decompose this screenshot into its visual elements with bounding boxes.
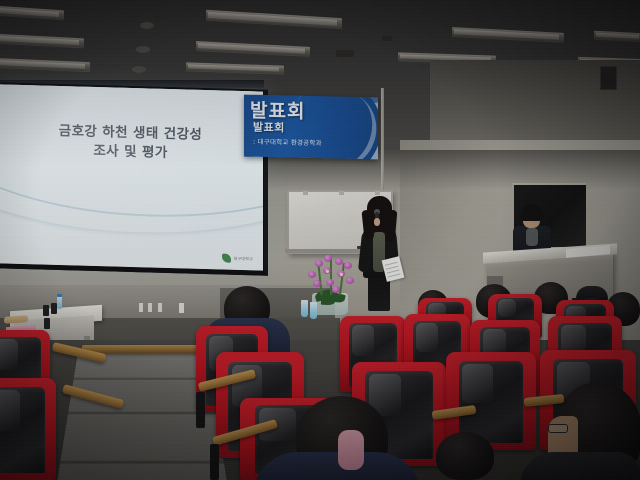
floor-object <box>148 303 152 312</box>
host-shirt <box>526 228 538 246</box>
ceiling-light-fixture <box>196 41 310 56</box>
orchid-blossom <box>324 255 332 262</box>
orchid-arrangement <box>299 253 361 319</box>
audience-scarf <box>338 430 364 470</box>
wall-speaker-icon <box>600 66 617 90</box>
ceiling-speaker-icon <box>136 46 150 53</box>
host-hair <box>520 204 543 221</box>
orchid-blossom <box>326 279 334 286</box>
flower-stem <box>317 263 322 295</box>
ceiling-light-fixture <box>0 58 90 71</box>
floor-object <box>158 303 162 312</box>
orchid-blossom <box>315 260 323 267</box>
university-logo-icon <box>222 254 231 263</box>
banner-pole <box>381 88 384 198</box>
projection-screen: 금호강 하천 생태 건강성 조사 및 평가 대구대학교 <box>0 82 268 276</box>
floor-object <box>179 303 184 313</box>
orchid-blossom <box>332 286 340 293</box>
ceiling-speaker-icon <box>132 66 146 73</box>
ceiling-vent <box>336 50 354 57</box>
ceiling-light-fixture <box>0 34 84 48</box>
eyeglasses-icon <box>548 424 568 433</box>
presenter-papers <box>382 256 405 282</box>
ceiling-speaker-icon <box>140 22 154 29</box>
audience-torso <box>520 452 640 480</box>
orchid-blossom <box>344 262 352 269</box>
orchid-center <box>340 273 343 276</box>
audience-torso <box>252 452 422 480</box>
water-bottle <box>57 296 62 309</box>
water-bottle <box>310 302 317 319</box>
armrest-post <box>196 392 205 428</box>
event-banner: 발표회 발표회 : 대구대학교 환경공학과 <box>244 95 378 160</box>
slide-title: 금호강 하천 생태 건강성 조사 및 평가 <box>0 120 263 165</box>
orchid-blossom <box>313 280 321 287</box>
auditorium-seat[interactable] <box>0 378 56 480</box>
ceiling-light-fixture <box>452 27 564 42</box>
banner-org-line: : 대구대학교 환경공학과 <box>253 136 322 147</box>
dark-cup <box>44 318 50 329</box>
ceiling-vent <box>382 36 392 41</box>
presenter <box>356 196 402 314</box>
ceiling-light-fixture <box>0 6 64 20</box>
audience-head <box>436 432 494 480</box>
slide-logo-text: 대구대학교 <box>234 255 253 262</box>
floor-object <box>139 303 143 312</box>
flower-leaf <box>321 298 335 305</box>
slide-surface: 금호강 하천 생태 건강성 조사 및 평가 대구대학교 <box>0 84 263 270</box>
orchid-blossom <box>335 258 343 265</box>
ceiling-light-fixture <box>594 31 640 42</box>
orchid-blossom <box>308 271 316 278</box>
ceiling-light-fixture <box>206 10 342 28</box>
orchid-blossom <box>346 277 354 284</box>
armrest-post <box>210 444 219 480</box>
presenter-hair <box>367 196 392 232</box>
dark-cup <box>43 305 49 316</box>
ceiling-light-fixture <box>186 62 284 73</box>
slide-body <box>0 84 263 270</box>
presenter-hand <box>374 218 380 226</box>
banner-subhead: 발표회 <box>253 119 285 136</box>
bottle-cap <box>57 294 62 297</box>
slide-logo: 대구대학교 <box>222 254 253 264</box>
water-bottle <box>301 300 308 317</box>
orchid-center <box>326 270 329 273</box>
auditorium-photo: 금호강 하천 생태 건강성 조사 및 평가 대구대학교 발표회 발표회 : 대구… <box>0 0 640 480</box>
